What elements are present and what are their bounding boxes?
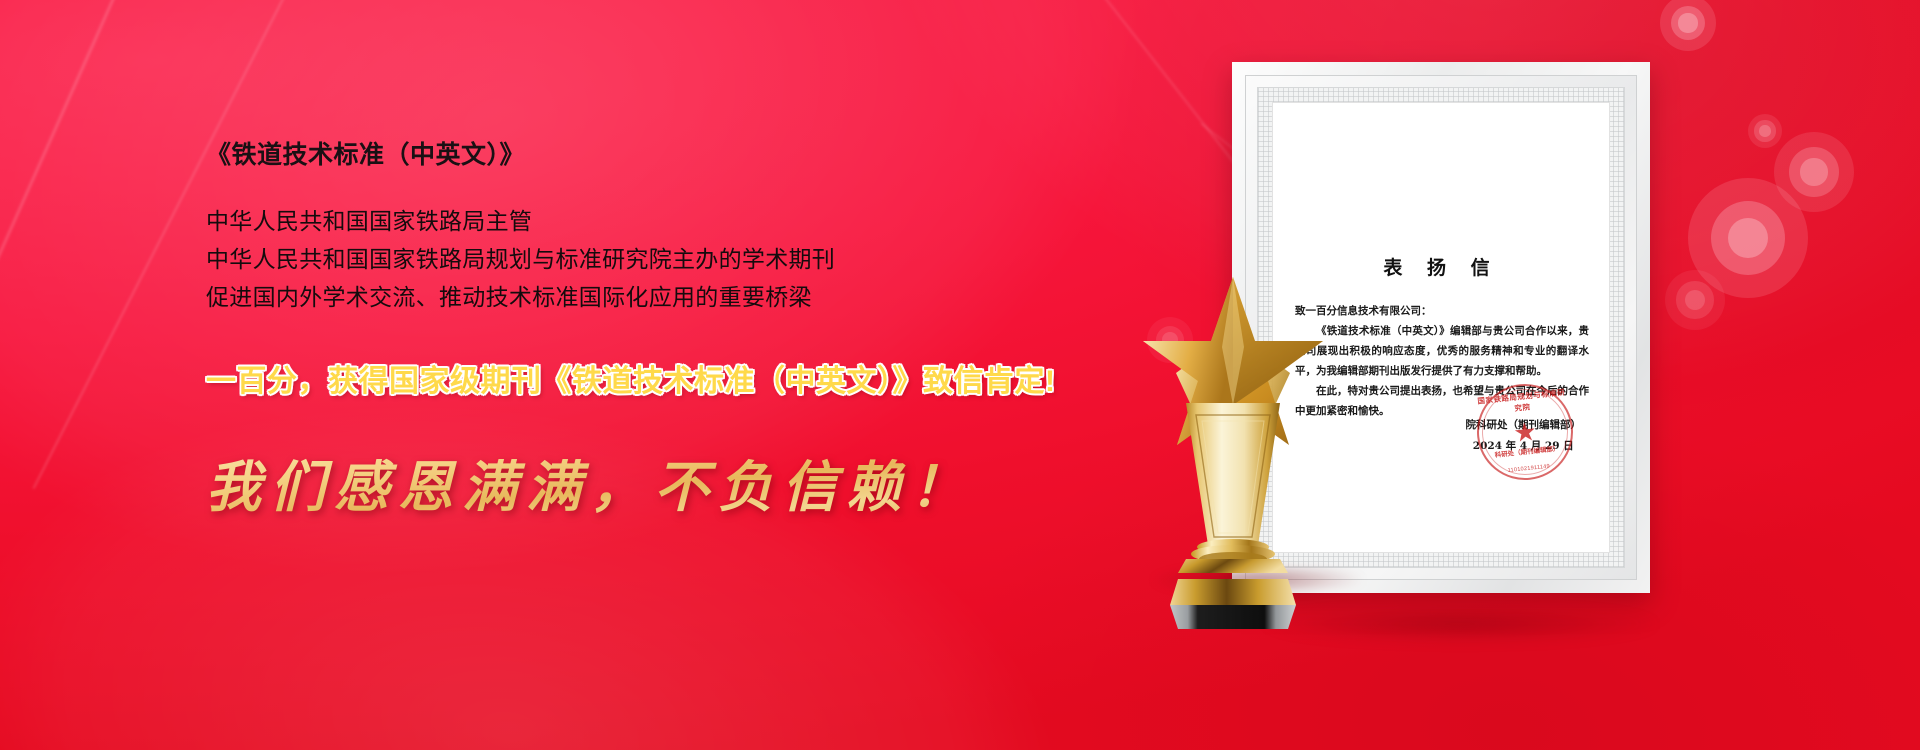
bokeh-core (1800, 158, 1827, 185)
journal-description: 中华人民共和国国家铁路局主管 中华人民共和国国家铁路局规划与标准研究院主办的学术… (206, 202, 1006, 316)
bokeh-inner-ring (1711, 201, 1785, 275)
award-banner: 《铁道技术标准（中英文）》 中华人民共和国国家铁路局主管 中华人民共和国国家铁路… (0, 0, 1920, 750)
journal-title: 《铁道技术标准（中英文）》 (206, 140, 1006, 170)
official-seal-icon: 国家铁路局规划与标准研究院 ★ 科研处（期刊编辑部） 1101021911149 (1472, 379, 1578, 485)
bokeh-inner-ring (1789, 147, 1839, 197)
bokeh-mid-right (1748, 114, 1782, 148)
description-line: 中华人民共和国国家铁路局规划与标准研究院主办的学术期刊 (206, 240, 1006, 278)
bokeh-inner-ring (1754, 120, 1775, 141)
bokeh-right-medium (1774, 132, 1854, 212)
gold-star-trophy-icon (1118, 255, 1348, 575)
description-line: 促进国内外学术交流、推动技术标准国际化应用的重要桥梁 (206, 278, 1006, 316)
seal-star-icon: ★ (1512, 418, 1538, 446)
bokeh-core (1728, 218, 1769, 259)
gratitude-calligraphy: 我们感恩满满，不负信赖！ (206, 442, 1006, 522)
bokeh-inner-ring (1671, 6, 1706, 41)
bokeh-core (1685, 290, 1705, 310)
copy-block: 《铁道技术标准（中英文）》 中华人民共和国国家铁路局主管 中华人民共和国国家铁路… (206, 140, 1006, 522)
bokeh-top-right-small (1660, 0, 1716, 51)
bokeh-right-faint (1665, 270, 1725, 330)
bokeh-core (1678, 13, 1697, 32)
bokeh-right-large (1688, 178, 1808, 298)
award-headline: 一百分，获得国家级期刊《铁道技术标准（中英文）》致信肯定! (206, 356, 1006, 400)
background-streak-1 (0, 0, 173, 453)
bokeh-core (1759, 125, 1771, 137)
description-line: 中华人民共和国国家铁路局主管 (206, 202, 1006, 240)
bokeh-inner-ring (1676, 281, 1713, 318)
